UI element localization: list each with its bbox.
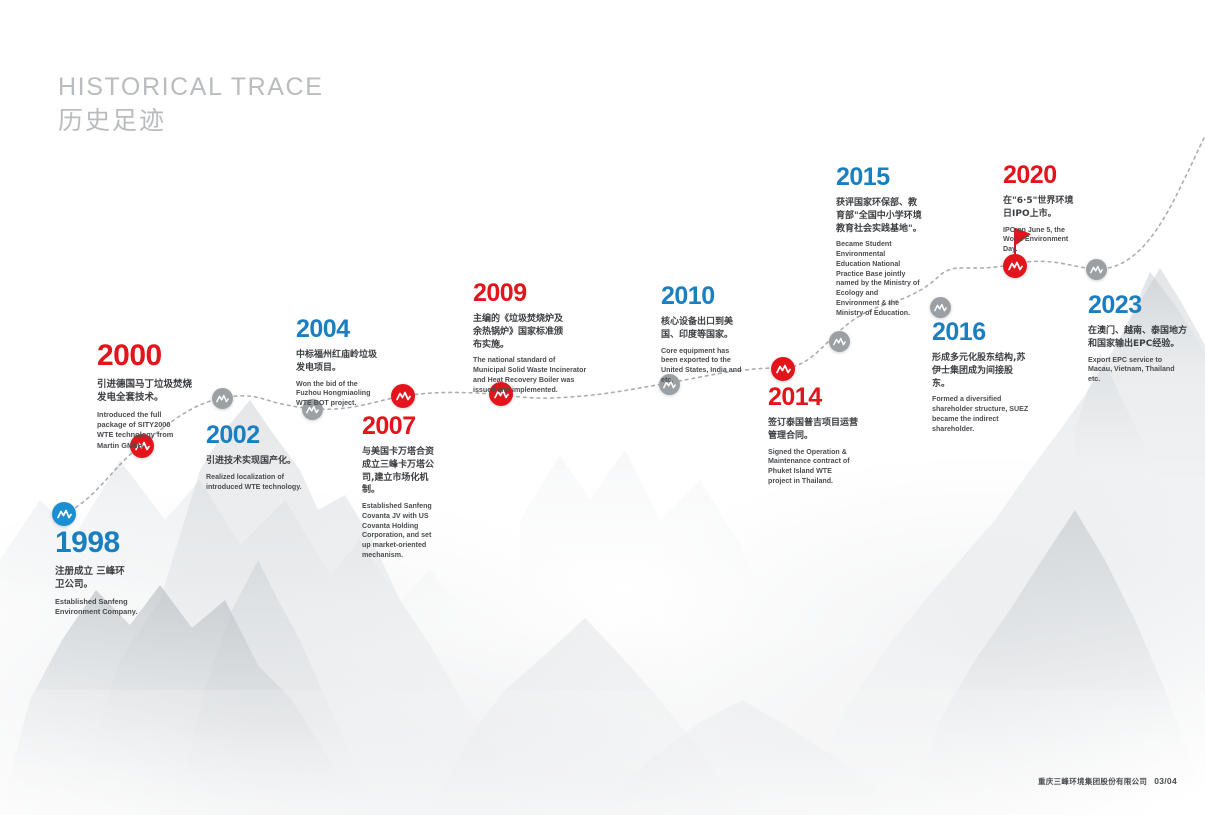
marker-2014[interactable]	[771, 357, 795, 381]
mountain-logo-icon	[776, 364, 791, 375]
mountain-logo-icon	[57, 509, 72, 520]
event-zh: 主编的《垃圾焚烧炉及余热锅炉》国家标准颁布实施。	[473, 313, 563, 351]
event-zh: 中标福州红庙岭垃圾发电项目。	[296, 349, 380, 375]
event-zh: 注册成立 三峰环卫公司。	[55, 565, 133, 592]
event-year: 2023	[1088, 293, 1205, 318]
event-2007: 2007 与美国卡万塔合资成立三峰卡万塔公司,建立市场化机制。 Establis…	[362, 414, 472, 561]
event-year: 2009	[473, 281, 598, 306]
event-zh: 引进德国马丁垃圾焚烧发电全套技术。	[97, 378, 192, 405]
event-year: 2020	[1003, 163, 1113, 188]
event-en: Export EPC service to Macau, Vietnam, Th…	[1088, 356, 1188, 385]
event-zh: 在"6·5"世界环境日IPO上市。	[1003, 195, 1081, 221]
event-en: Became Student Environmental Education N…	[836, 240, 920, 318]
event-zh: 核心设备出口到美国、印度等国家。	[661, 316, 741, 342]
event-year: 2010	[661, 284, 771, 309]
event-year: 1998	[55, 528, 165, 558]
event-2016: 2016 形成多元化股东结构,苏伊士集团成为间接股东。 Formed a div…	[932, 320, 1047, 434]
event-2020: 2020 在"6·5"世界环境日IPO上市。 IPO on June 5, th…	[1003, 163, 1113, 255]
event-year: 2016	[932, 320, 1047, 345]
event-2023: 2023 在澳门、越南、泰国地方和国家输出EPC经验。 Export EPC s…	[1088, 293, 1205, 385]
event-zh: 引进技术实现国产化。	[206, 455, 326, 468]
event-zh: 在澳门、越南、泰国地方和国家输出EPC经验。	[1088, 325, 1194, 351]
event-2004: 2004 中标福州红庙岭垃圾发电项目。 Won the bid of the F…	[296, 317, 406, 409]
event-zh: 签订泰国普吉项目运营管理合同。	[768, 417, 860, 443]
event-2014: 2014 签订泰国普吉项目运营管理合同。 Signed the Operatio…	[768, 385, 883, 487]
event-year: 2002	[206, 423, 336, 448]
event-en: Won the bid of the Fuzhou Hongmiaoling W…	[296, 380, 378, 409]
mountain-logo-icon	[216, 394, 229, 404]
mountain-logo-icon	[833, 337, 846, 347]
footer: 重庆三峰环境集团股份有限公司 03/04	[1038, 776, 1177, 787]
slide-canvas: HISTORICAL TRACE 历史足迹	[0, 0, 1205, 815]
event-year: 2007	[362, 414, 472, 439]
event-en: Realized localization of introduced WTE …	[206, 473, 310, 493]
marker-2015[interactable]	[829, 331, 850, 352]
footer-page-number: 03/04	[1154, 776, 1177, 786]
event-2000: 2000 引进德国马丁垃圾焚烧发电全套技术。 Introduced the fu…	[97, 341, 217, 451]
marker-2023[interactable]	[1086, 259, 1107, 280]
event-2002: 2002 引进技术实现国产化。 Realized localization of…	[206, 423, 336, 492]
event-en: Introduced the full package of SITY2000 …	[97, 410, 175, 451]
event-en: Signed the Operation & Maintenance contr…	[768, 448, 852, 487]
event-2015: 2015 获评国家环保部、教育部"全国中小学环境教育社会实践基地"。 Becam…	[836, 165, 936, 319]
event-year: 2014	[768, 385, 883, 410]
event-zh: 获评国家环保部、教育部"全国中小学环境教育社会实践基地"。	[836, 197, 922, 235]
event-en: Established Sanfeng Environment Company.	[55, 597, 155, 617]
event-2010: 2010 核心设备出口到美国、印度等国家。 Core equipment has…	[661, 284, 771, 386]
event-year: 2000	[97, 341, 217, 371]
mountain-logo-icon	[1008, 261, 1023, 272]
event-en: The national standard of Municipal Solid…	[473, 356, 588, 395]
event-en: Formed a diversified shareholder structu…	[932, 395, 1036, 434]
event-zh: 与美国卡万塔合资成立三峰卡万塔公司,建立市场化机制。	[362, 446, 442, 497]
event-2009: 2009 主编的《垃圾焚烧炉及余热锅炉》国家标准颁布实施。 The nation…	[473, 281, 598, 395]
mountain-logo-icon	[1090, 265, 1103, 275]
event-en: Core equipment has been exported to the …	[661, 347, 747, 386]
marker-2020[interactable]	[1003, 254, 1027, 278]
footer-company: 重庆三峰环境集团股份有限公司	[1038, 776, 1147, 787]
event-year: 2004	[296, 317, 406, 342]
event-en: Established Sanfeng Covanta JV with US C…	[362, 502, 434, 561]
event-1998: 1998 注册成立 三峰环卫公司。 Established Sanfeng En…	[55, 528, 165, 617]
event-zh: 形成多元化股东结构,苏伊士集团成为间接股东。	[932, 352, 1026, 390]
event-en: IPO on June 5, the World Environment Day…	[1003, 226, 1083, 255]
marker-1998[interactable]	[52, 502, 76, 526]
event-year: 2015	[836, 165, 936, 190]
